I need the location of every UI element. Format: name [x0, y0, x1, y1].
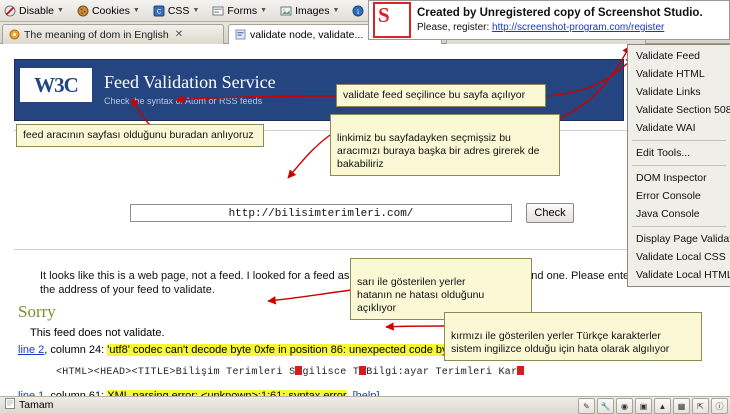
menu-item-label: Validate WAI: [636, 122, 696, 134]
web-developer-context-menu[interactable]: Validate Feed Validate HTML Validate Lin…: [627, 44, 730, 287]
document-icon: [5, 398, 15, 412]
validation-summary: This feed does not validate.: [30, 327, 165, 339]
page-favicon: [235, 29, 246, 40]
annotation-other-address: linkimiz bu sayfadayken seçmişsiz bu ara…: [330, 114, 560, 176]
sorry-heading: Sorry: [18, 302, 56, 322]
status-bar: Tamam ✎ 🔧 ◉ ▣ ▲ ▦ ⇱ ⓘ: [0, 396, 730, 413]
wrench-icon[interactable]: 🔧: [597, 398, 614, 414]
menu-item-validate-section-508[interactable]: Validate Section 508: [628, 101, 730, 119]
check-button[interactable]: Check: [526, 203, 574, 223]
svg-text:C: C: [157, 9, 162, 15]
toolbar-item-label: Disable: [19, 5, 54, 17]
forms-icon: [212, 5, 224, 17]
menu-item-label: Validate Local HTML: [636, 269, 730, 281]
chevron-down-icon: ▼: [333, 7, 340, 14]
menu-item-label: Validate Section 508: [636, 104, 730, 116]
close-icon[interactable]: ✕: [175, 29, 183, 40]
toolbar-item-label: Cookies: [92, 5, 130, 17]
chevron-down-icon: ▼: [260, 7, 267, 14]
toolbar-item-disable[interactable]: Disable ▼: [4, 5, 64, 17]
information-icon: i: [352, 5, 364, 17]
cursor-icon[interactable]: ⇱: [692, 398, 709, 414]
info-icon[interactable]: ⓘ: [711, 398, 728, 414]
pencil-icon[interactable]: ✎: [578, 398, 595, 414]
annotation-validate-feed: validate feed seçilince bu sayfa açılıyo…: [336, 84, 546, 107]
feed-url-row[interactable]: http://bilisimterimleri.com/ Check: [130, 204, 590, 224]
images-icon: [280, 5, 292, 17]
menu-item-label: Java Console: [636, 208, 700, 220]
divider: [14, 249, 714, 250]
toolbar-item-label: Forms: [227, 5, 257, 17]
shield-icon[interactable]: ▲: [654, 398, 671, 414]
cookie-icon: [77, 5, 89, 17]
toolbar-item-forms[interactable]: Forms ▼: [212, 5, 267, 17]
menu-item-dom-inspector[interactable]: DOM Inspector: [628, 169, 730, 187]
nag-register-link[interactable]: http://screenshot-program.com/register: [492, 22, 664, 33]
nag-title: Created by Unregistered copy of Screensh…: [417, 7, 729, 19]
menu-item-validate-local-css[interactable]: Validate Local CSS: [628, 248, 730, 266]
menu-item-label: Error Console: [636, 190, 701, 202]
annotation-red-turkish-chars: kırmızı ile gösterilen yerler Türkçe kar…: [444, 312, 702, 361]
nag-register-label: Please, register:: [417, 22, 489, 33]
toolbar-item-label: Images: [295, 5, 329, 17]
menu-item-label: Validate HTML: [636, 68, 705, 80]
menu-item-label: DOM Inspector: [636, 172, 707, 184]
disable-icon: [4, 5, 16, 17]
annotation-text: kırmızı ile gösterilen yerler Türkçe kar…: [451, 330, 669, 355]
menu-item-validate-feed[interactable]: Validate Feed: [628, 47, 730, 65]
menu-item-label: Edit Tools...: [636, 147, 690, 159]
menu-item-validate-html[interactable]: Validate HTML: [628, 65, 730, 83]
toolbar-item-cookies[interactable]: Cookies ▼: [77, 5, 140, 17]
error-code-1: <HTML><HEAD><TITLE>Bilişim Terimleri Sgi…: [56, 366, 524, 378]
annotation-feed-tool-page: feed aracının sayfası olduğunu buradan a…: [16, 124, 264, 147]
menu-item-label: Validate Feed: [636, 50, 700, 62]
feed-notice-text: It looks like this is a web page, not a …: [40, 269, 640, 297]
annotation-text: linkimiz bu sayfadayken seçmişsiz bu ara…: [337, 132, 540, 170]
page-favicon: [9, 29, 20, 40]
status-right-buttons[interactable]: ✎ 🔧 ◉ ▣ ▲ ▦ ⇱ ⓘ: [576, 398, 728, 414]
menu-separator: [632, 226, 726, 227]
w3c-logo-text: W3C: [34, 73, 78, 98]
menu-item-java-console[interactable]: Java Console: [628, 205, 730, 223]
annotation-yellow-explains: sarı ile gösterilen yerler hatanın ne ha…: [350, 258, 532, 320]
browser-tab-1[interactable]: The meaning of dom in English ✕: [2, 24, 224, 44]
logo-letter: S: [378, 3, 390, 28]
status-text: Tamam: [19, 399, 53, 411]
bad-byte-marker: [517, 366, 524, 375]
chevron-down-icon: ▼: [57, 7, 64, 14]
menu-item-label: Validate Local CSS: [636, 251, 726, 263]
annotation-text: validate feed seçilince bu sayfa açılıyo…: [343, 89, 525, 101]
globe-icon[interactable]: ◉: [616, 398, 633, 414]
screenshot-studio-nag-banner: S Created by Unregistered copy of Screen…: [368, 0, 730, 40]
toolbar-item-css[interactable]: C CSS ▼: [153, 5, 200, 17]
service-subtitle: Check the syntax of Atom or RSS feeds: [104, 96, 262, 106]
menu-item-validate-wai[interactable]: Validate WAI: [628, 119, 730, 137]
status-left: Tamam: [0, 398, 53, 412]
chevron-down-icon: ▼: [192, 7, 199, 14]
chevron-down-icon: ▼: [133, 7, 140, 14]
menu-item-edit-tools[interactable]: Edit Tools...: [628, 144, 730, 162]
svg-text:i: i: [357, 7, 359, 16]
screenshot-studio-logo: S: [373, 2, 411, 38]
menu-item-validate-local-html[interactable]: Validate Local HTML: [628, 266, 730, 284]
error-line-link[interactable]: line 2: [18, 344, 44, 356]
annotation-text: feed aracının sayfası olduğunu buradan a…: [23, 129, 254, 141]
toolbar-item-label: CSS: [168, 5, 190, 17]
feed-url-input[interactable]: http://bilisimterimleri.com/: [130, 204, 512, 222]
menu-item-label: Display Page Validation: [636, 233, 730, 245]
nag-register-row: Please, register: http://screenshot-prog…: [417, 22, 729, 33]
error-column: , column 24:: [44, 344, 107, 356]
menu-item-display-page-validation[interactable]: Display Page Validation: [628, 230, 730, 248]
css-icon: C: [153, 5, 165, 17]
tab-label: The meaning of dom in English: [24, 29, 169, 41]
toolbar-item-images[interactable]: Images ▼: [280, 5, 339, 17]
grid-icon[interactable]: ▦: [673, 398, 690, 414]
service-title: Feed Validation Service: [104, 72, 276, 93]
w3c-logo: W3C: [20, 68, 92, 102]
annotation-text: sarı ile gösterilen yerler hatanın ne ha…: [357, 276, 484, 314]
menu-item-validate-links[interactable]: Validate Links: [628, 83, 730, 101]
menu-item-error-console[interactable]: Error Console: [628, 187, 730, 205]
menu-separator: [632, 140, 726, 141]
tab-label: validate node, validate...: [250, 29, 363, 41]
disk-icon[interactable]: ▣: [635, 398, 652, 414]
menu-item-label: Validate Links: [636, 86, 701, 98]
menu-separator: [632, 165, 726, 166]
